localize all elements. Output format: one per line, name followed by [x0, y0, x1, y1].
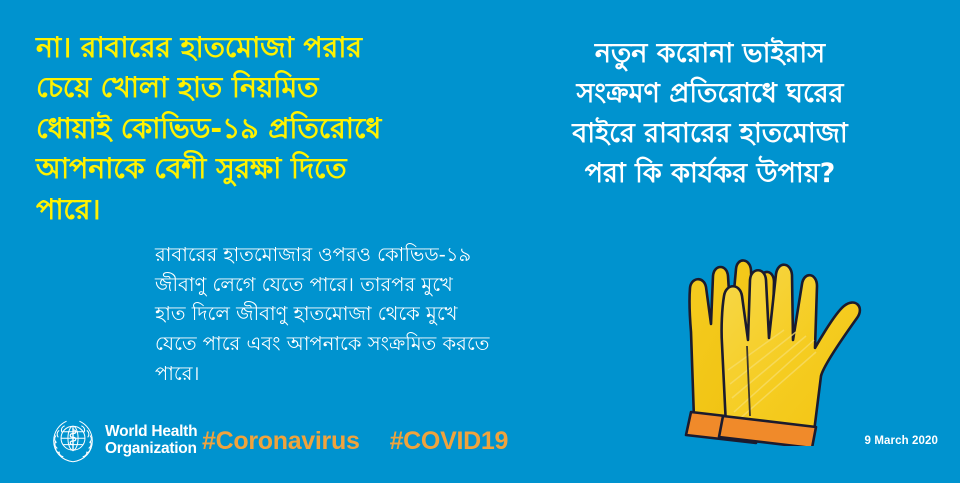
date-stamp: 9 March 2020	[865, 435, 938, 447]
hashtag-covid19[interactable]: #COVID19	[390, 427, 509, 456]
question-headline: নতুন করোনা ভাইরাস সংক্রমণ প্রতিরোধে ঘরের…	[480, 34, 940, 194]
who-logo: World Health Organization	[50, 418, 197, 464]
footer-bar: World Health Organization #Coronavirus #…	[0, 409, 960, 483]
answer-headline: না। রাবারের হাতমোজা পরার চেয়ে খোলা হাত …	[36, 28, 506, 230]
hashtag-coronavirus[interactable]: #Coronavirus	[202, 427, 360, 456]
who-emblem-icon	[50, 418, 96, 464]
body-paragraph: রাবারের হাতমোজার ওপরও কোভিড-১৯ জীবাণু লে…	[155, 240, 610, 388]
infographic-poster: না। রাবারের হাতমোজা পরার চেয়ে খোলা হাত …	[0, 0, 960, 483]
hashtag-group: #Coronavirus #COVID19	[202, 427, 508, 456]
who-wordmark: World Health Organization	[105, 424, 197, 457]
